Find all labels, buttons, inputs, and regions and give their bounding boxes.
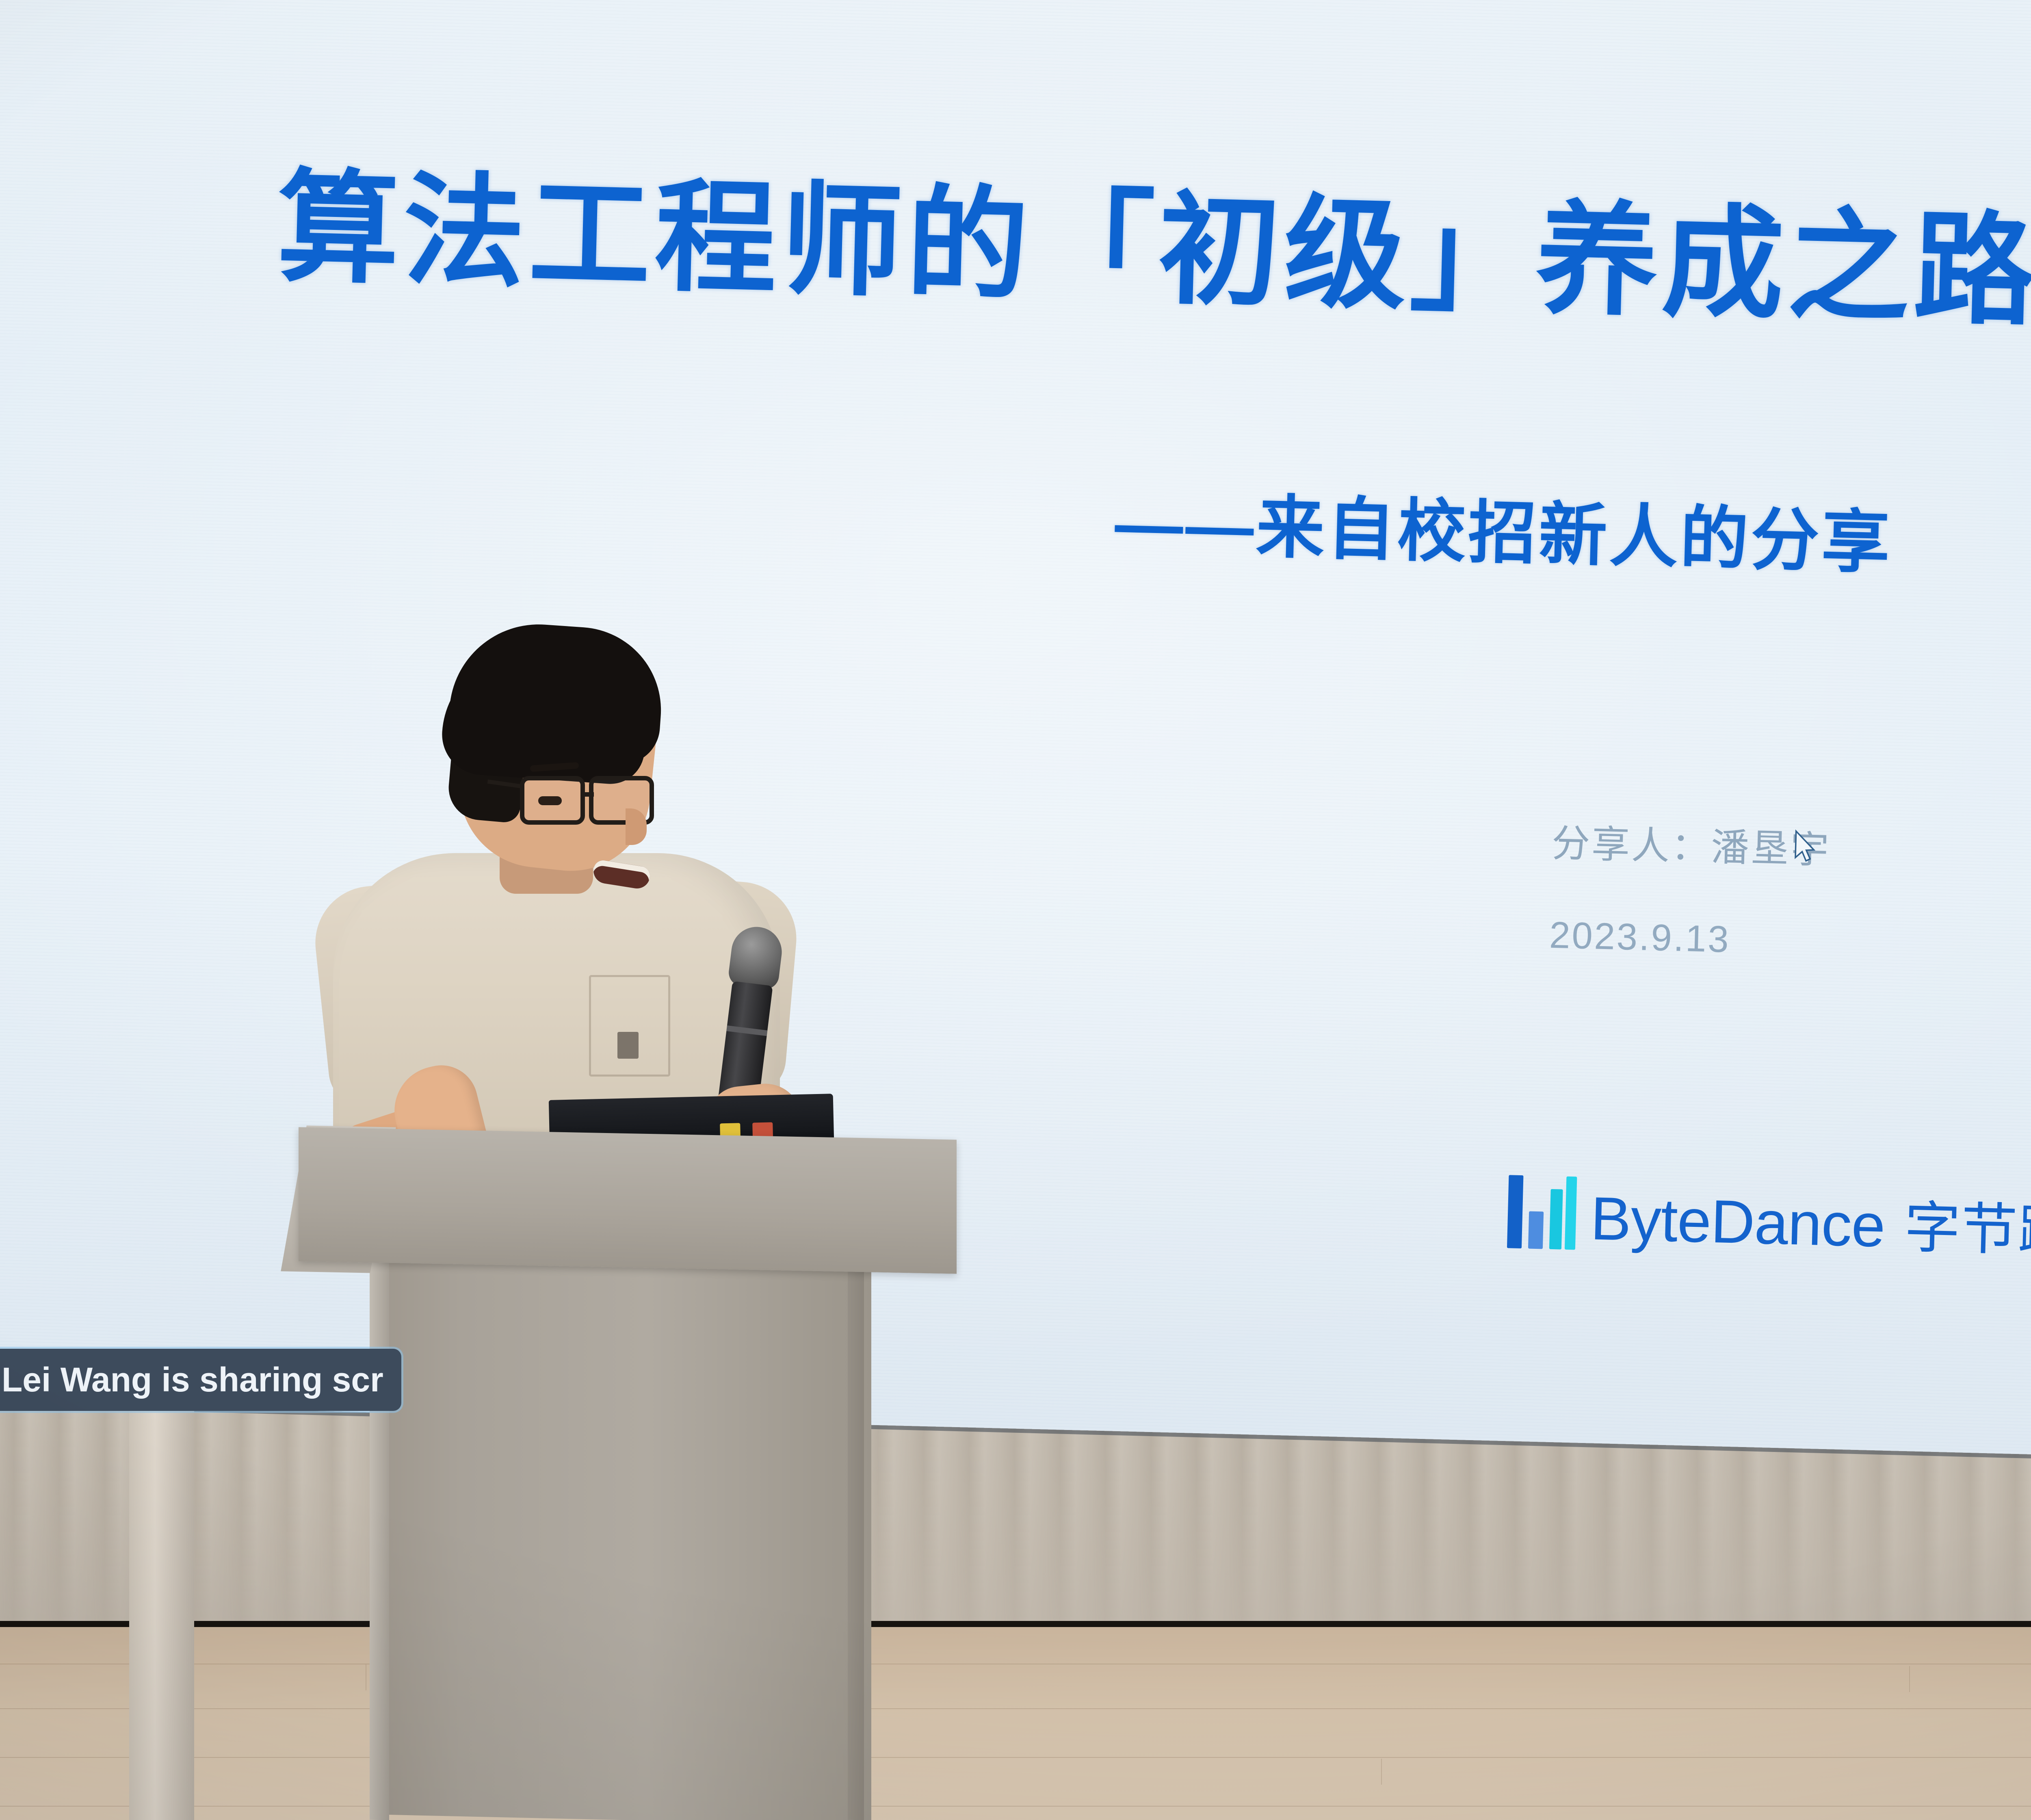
- screen-sharing-banner[interactable]: Lei Wang is sharing scr: [0, 1349, 401, 1411]
- bytedance-chinese-name: 字节跳动: [1903, 1200, 2031, 1264]
- hair: [446, 618, 667, 767]
- lectern-edge-right: [848, 1255, 864, 1820]
- slide-date: 2023.9.13: [1549, 914, 1731, 961]
- lectern-edge-left: [370, 1255, 389, 1820]
- microphone-head: [727, 924, 784, 991]
- slide-presenter: 分享人：潘垦宇: [1551, 812, 1831, 875]
- shirt-pocket: [589, 975, 670, 1077]
- lectern-body: [372, 1250, 871, 1820]
- wall-column: [129, 1373, 194, 1820]
- eye: [538, 796, 562, 805]
- lectern: [299, 1133, 957, 1820]
- bytedance-wordmark: ByteDance: [1590, 1187, 1886, 1257]
- lectern-top: [299, 1127, 957, 1274]
- glasses-bridge: [584, 792, 594, 797]
- shirt-logo-patch: [617, 1032, 639, 1059]
- mouse-cursor-icon: [1792, 828, 1817, 867]
- presentation-photo: 算法工程师的「初级」养成之路 ——来自校招新人的分享 分享人：潘垦宇 2023.…: [0, 0, 2031, 1820]
- bytedance-mark-icon: [1507, 1175, 1578, 1250]
